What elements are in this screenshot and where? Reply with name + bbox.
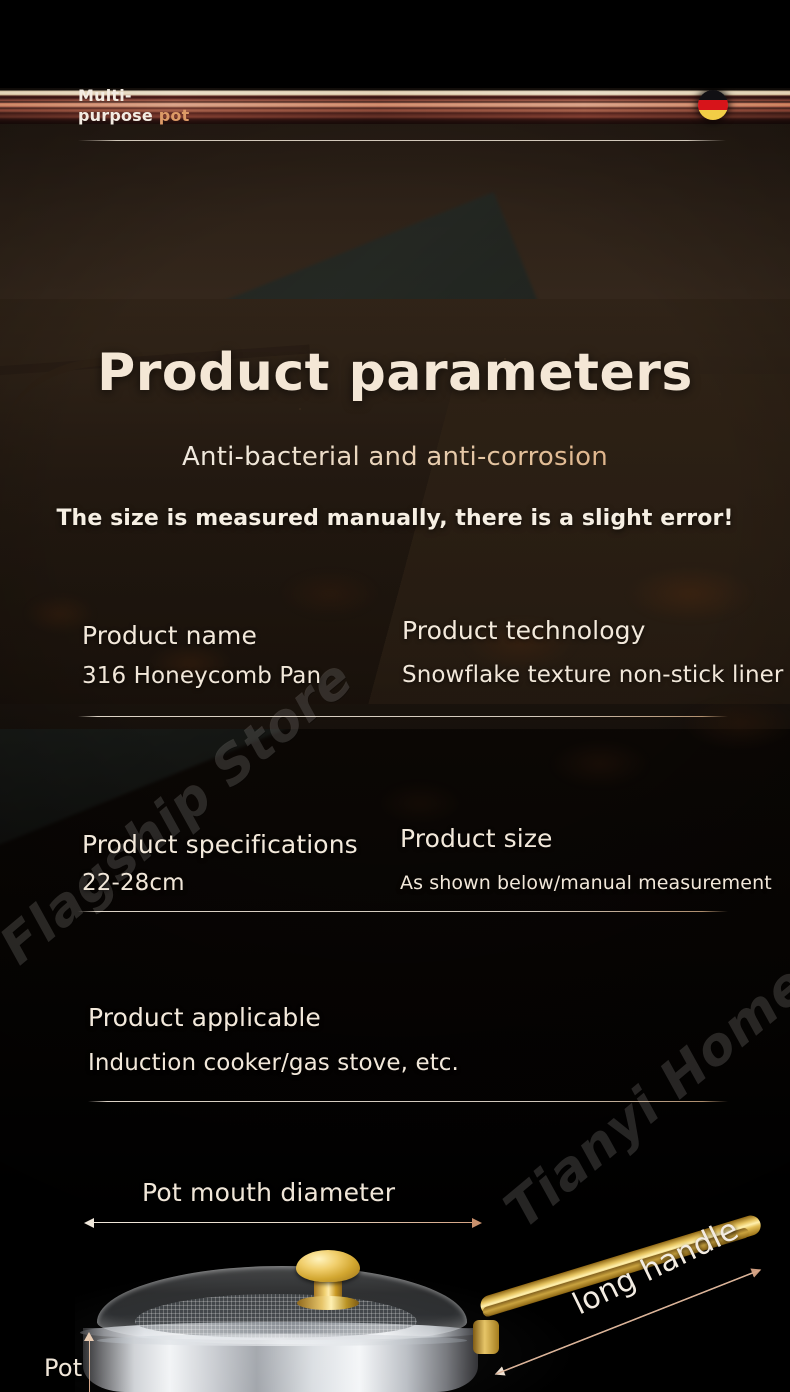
spec-value-product-technology: Snowflake texture non-stick liner	[402, 662, 783, 688]
spec-row-divider-1	[78, 716, 728, 717]
product-parameters-banner: e Flagship Store Tianyi Home Flagship S …	[0, 0, 790, 1392]
dimension-label-pot-height: Pot	[44, 1354, 82, 1382]
spec-label-product-specifications: Product specifications	[82, 830, 358, 859]
arrow-shaft-vertical	[89, 1338, 90, 1392]
spec-value-product-size: As shown below/manual measurement	[400, 872, 772, 894]
spec-row-divider-3	[88, 1101, 728, 1102]
arrow-shaft	[92, 1222, 474, 1223]
spec-value-product-specifications: 22-28cm	[82, 870, 185, 896]
spec-label-product-technology: Product technology	[402, 616, 646, 645]
spec-value-product-name: 316 Honeycomb Pan	[82, 663, 321, 689]
arrow-head-right-icon	[472, 1218, 482, 1228]
spec-row-divider-2	[78, 911, 728, 912]
spec-label-product-applicable: Product applicable	[88, 1003, 321, 1032]
spec-value-product-applicable: Induction cooker/gas stove, etc.	[88, 1050, 459, 1076]
dimension-arrow-horizontal-icon	[84, 1218, 482, 1228]
dimension-label-pot-mouth-diameter: Pot mouth diameter	[142, 1178, 395, 1207]
dimension-arrow-vertical-icon	[84, 1332, 94, 1392]
spec-label-product-size: Product size	[400, 824, 553, 853]
spec-label-product-name: Product name	[82, 621, 257, 650]
